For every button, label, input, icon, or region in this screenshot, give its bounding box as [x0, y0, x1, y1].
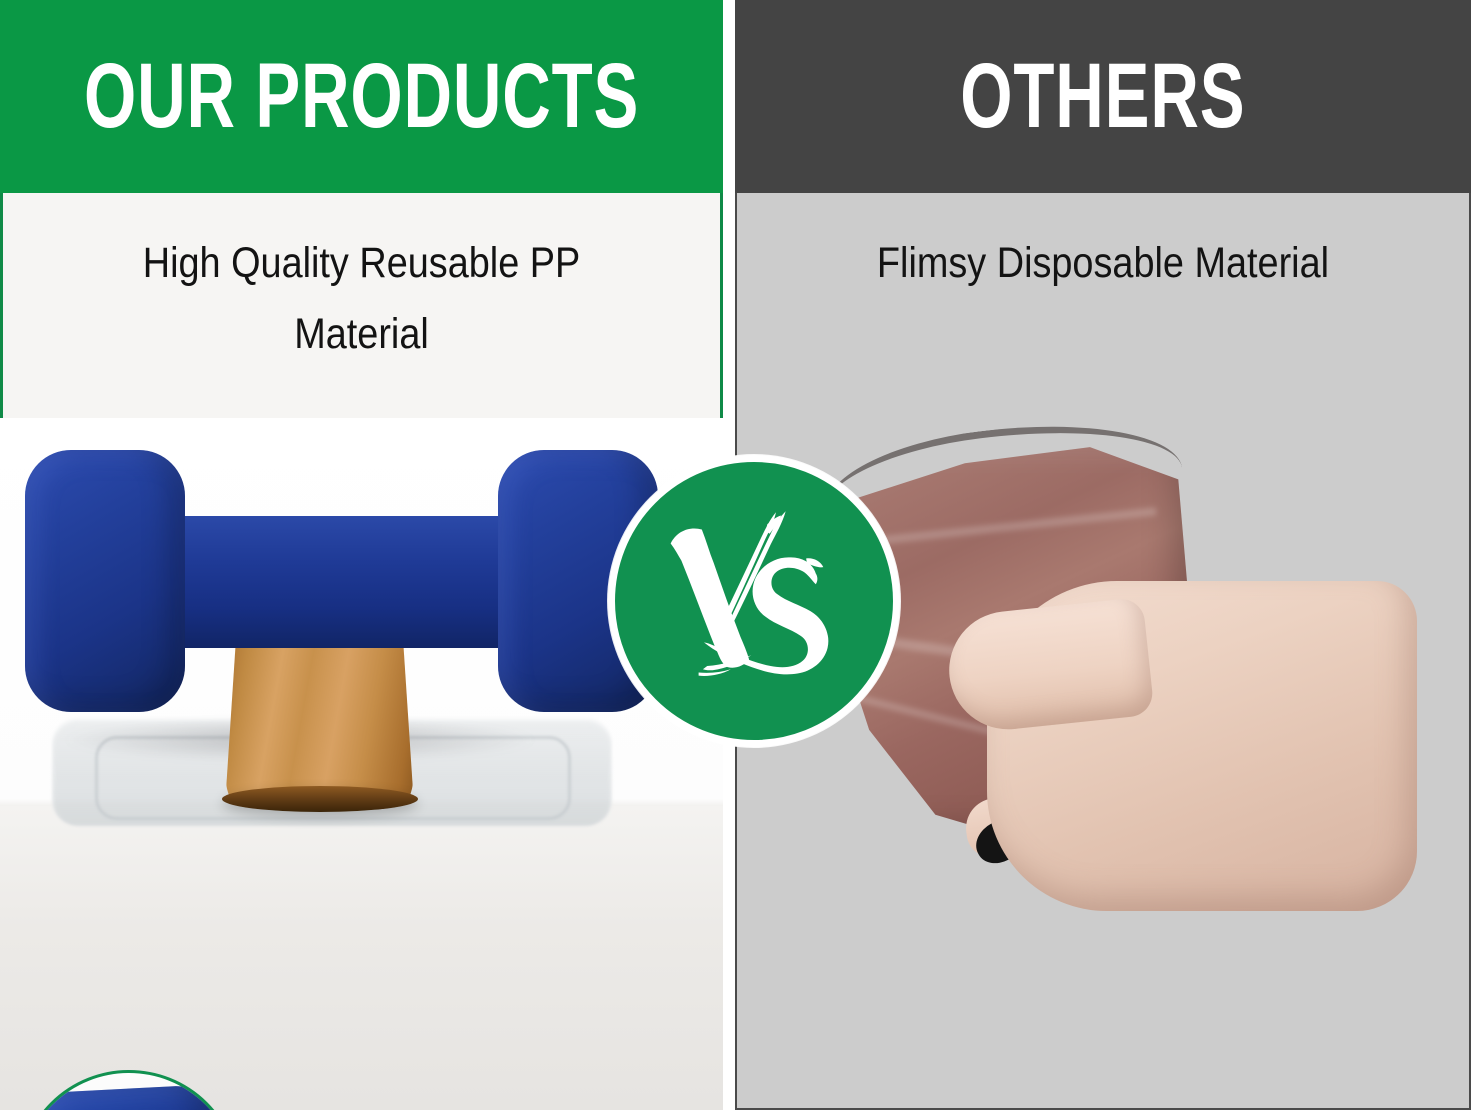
comparison-infographic: OUR PRODUCTS High Quality Reusable PP Ma…: [0, 0, 1471, 1120]
photo-our-products: 3KG: [0, 418, 723, 1110]
header-title-others: OTHERS: [960, 51, 1245, 143]
caption-our-products: High Quality Reusable PP Material: [46, 228, 677, 370]
body-our-products: High Quality Reusable PP Material 3KG: [0, 193, 723, 1110]
dumbbell-bar: [148, 516, 524, 648]
caption-others: Flimsy Disposable Material: [781, 228, 1425, 299]
reusable-pp-cup-rim: [222, 786, 418, 812]
vs-badge: [608, 455, 900, 747]
header-others: OTHERS: [735, 0, 1471, 193]
header-our-products: OUR PRODUCTS: [0, 0, 723, 193]
table-surface: [0, 806, 723, 1110]
reusable-pp-cup: [225, 630, 413, 802]
vs-brush-icon: [647, 494, 862, 709]
dumbbell-head-left: [25, 450, 185, 712]
header-title-our-products: OUR PRODUCTS: [84, 51, 639, 143]
